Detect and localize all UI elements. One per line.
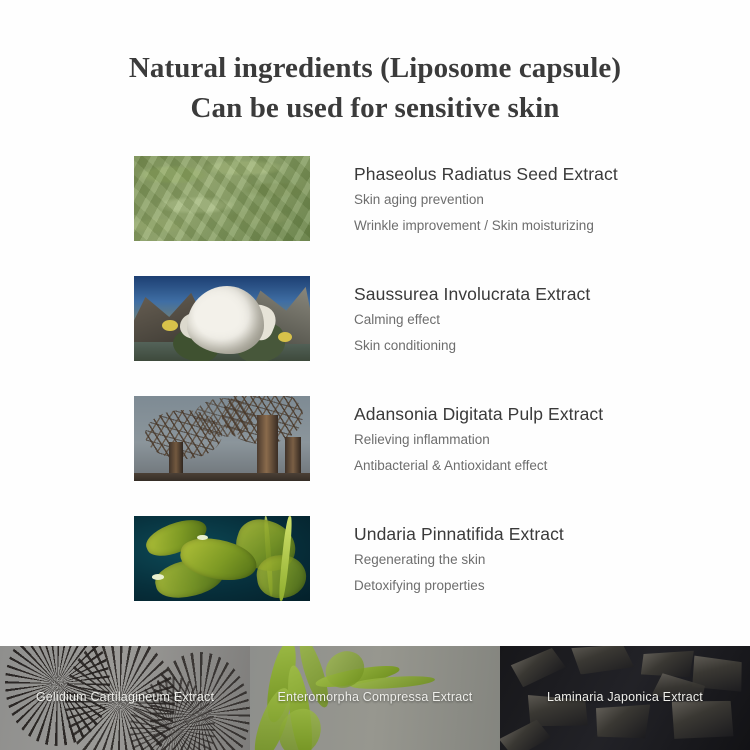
ingredients-infographic: Natural ingredients (Liposome capsule) C… [0, 0, 750, 750]
ingredient-name: Saussurea Involucrata Extract [354, 282, 590, 306]
ingredient-row: Saussurea Involucrata Extract Calming ef… [134, 276, 750, 396]
kelp-tip [197, 535, 208, 540]
strip-panel-enteromorpha: Enteromorpha Compressa Extract [250, 646, 500, 750]
flower-bloom [187, 286, 264, 354]
strip-caption: Enteromorpha Compressa Extract [250, 690, 500, 704]
strip-panel-laminaria: Laminaria Japonica Extract [500, 646, 750, 750]
ingredient-list: Phaseolus Radiatus Seed Extract Skin agi… [0, 156, 750, 636]
strip-panel-gelidium: Gelidium Cartilagineum Extract [0, 646, 250, 750]
ingredient-thumbnail-phaseolus-radiatus [134, 156, 310, 241]
ingredient-text: Saussurea Involucrata Extract Calming ef… [310, 276, 590, 357]
ingredient-text: Phaseolus Radiatus Seed Extract Skin agi… [310, 156, 618, 237]
ingredient-benefit-1: Calming effect [354, 309, 590, 332]
baobab-trees-image [134, 396, 310, 481]
kelp-chunk [568, 646, 637, 682]
page-title-line-1: Natural ingredients (Liposome capsule) [0, 48, 750, 88]
tree-trunk [257, 415, 278, 481]
ingredient-text: Adansonia Digitata Pulp Extract Relievin… [310, 396, 603, 477]
snow-lotus-flower-image [134, 276, 310, 361]
ingredient-thumbnail-saussurea-involucrata [134, 276, 310, 361]
ground-shape [134, 473, 310, 482]
bottom-image-strip: Gelidium Cartilagineum Extract Enteromor… [0, 646, 750, 750]
kelp-tip [152, 574, 164, 580]
ingredient-thumbnail-undaria-pinnatifida [134, 516, 310, 601]
page-title: Natural ingredients (Liposome capsule) C… [0, 48, 750, 128]
page-title-line-2: Can be used for sensitive skin [0, 88, 750, 128]
ingredient-benefit-2: Antibacterial & Antioxidant effect [354, 455, 603, 478]
ingredient-thumbnail-adansonia-digitata [134, 396, 310, 481]
ingredient-benefit-2: Wrinkle improvement / Skin moisturizing [354, 215, 618, 238]
ingredient-name: Phaseolus Radiatus Seed Extract [354, 162, 618, 186]
kelp-chunk [507, 646, 568, 690]
ingredient-benefit-1: Skin aging prevention [354, 189, 618, 212]
ingredient-benefit-1: Regenerating the skin [354, 549, 564, 572]
ingredient-benefit-2: Skin conditioning [354, 335, 590, 358]
green-bean-pods-image [134, 156, 310, 241]
ingredient-benefit-2: Detoxifying properties [354, 575, 564, 598]
ingredient-name: Adansonia Digitata Pulp Extract [354, 402, 603, 426]
ingredient-row: Adansonia Digitata Pulp Extract Relievin… [134, 396, 750, 516]
ingredient-benefit-1: Relieving inflammation [354, 429, 603, 452]
strip-caption: Gelidium Cartilagineum Extract [0, 690, 250, 704]
ingredient-row: Undaria Pinnatifida Extract Regenerating… [134, 516, 750, 636]
undaria-kelp-image [134, 516, 310, 601]
ingredient-text: Undaria Pinnatifida Extract Regenerating… [310, 516, 564, 597]
ingredient-name: Undaria Pinnatifida Extract [354, 522, 564, 546]
ingredient-row: Phaseolus Radiatus Seed Extract Skin agi… [134, 156, 750, 276]
strip-caption: Laminaria Japonica Extract [500, 690, 750, 704]
